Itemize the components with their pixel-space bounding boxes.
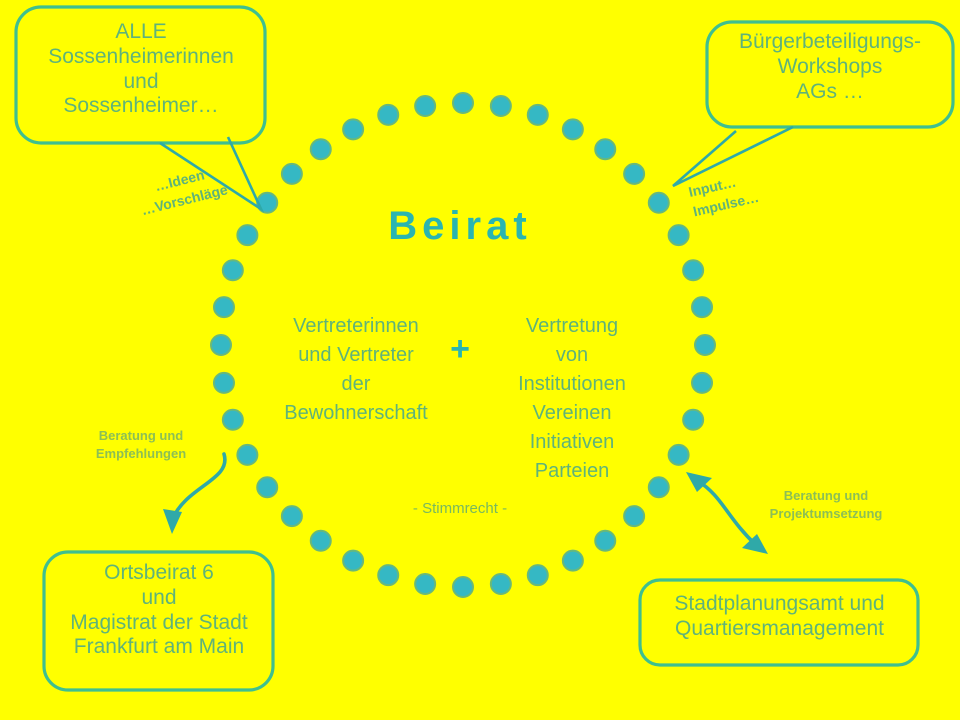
page-title-beirat: Beirat [340,203,580,250]
ring-dot [649,193,669,213]
plus-icon: + [443,332,477,366]
ring-dot [595,531,615,551]
center-column-left: Vertreterinnen und Vertreter der Bewohne… [272,312,440,428]
ring-dot [453,93,473,113]
ring-dot [378,105,398,125]
ring-dot [624,506,644,526]
arrow-left-head [163,509,182,534]
box-bottom-right-text: Stadtplanungsamt und Quartiersmanagement [642,592,917,642]
ring-dot [669,445,689,465]
bubble-top-right-text: Bürgerbeteiligungs- Workshops AGs … [709,30,951,104]
ring-dot [563,551,583,571]
ring-dot [237,225,257,245]
ring-dot [214,297,234,317]
footnote-stimmrecht: - Stimmrecht - [377,500,543,518]
ring-dot [211,335,231,355]
ring-dot [311,139,331,159]
ring-dot [311,531,331,551]
ring-dot [378,565,398,585]
arrow-caption-beratung-projektumsetzung: Beratung und Projektumsetzung [742,487,910,522]
ring-dot [343,119,363,139]
ring-dot [257,477,277,497]
ring-dot [563,119,583,139]
ring-dot [692,373,712,393]
arrow-left-curve [172,454,225,520]
ring-dot [683,410,703,430]
ring-dot [669,225,689,245]
ring-dot [223,410,243,430]
ring-dot [491,574,511,594]
center-column-right: Vertretung von Institutionen Vereinen In… [488,312,656,486]
ring-dot [528,565,548,585]
ring-dot [453,577,473,597]
ring-dot [214,373,234,393]
ring-dot [223,260,243,280]
ring-dot [415,96,435,116]
ring-dot [282,506,302,526]
ring-dot [528,105,548,125]
ring-dot [692,297,712,317]
arrow-caption-beratung-empfehlungen: Beratung und Empfehlungen [72,427,210,462]
box-bottom-left-text: Ortsbeirat 6 und Magistrat der Stadt Fra… [46,561,272,660]
diagram-canvas: ALLE Sossenheimerinnen und Sossenheimer…… [0,0,960,720]
ring-dot [415,574,435,594]
arrow-left-advice [163,454,225,534]
ring-dot [683,260,703,280]
bubble-top-left-text: ALLE Sossenheimerinnen und Sossenheimer… [18,20,264,119]
ring-dot [343,551,363,571]
ring-dot [595,139,615,159]
ring-dot [491,96,511,116]
ring-dot [237,445,257,465]
ring-dot [624,164,644,184]
ring-dot [695,335,715,355]
ring-dot [282,164,302,184]
